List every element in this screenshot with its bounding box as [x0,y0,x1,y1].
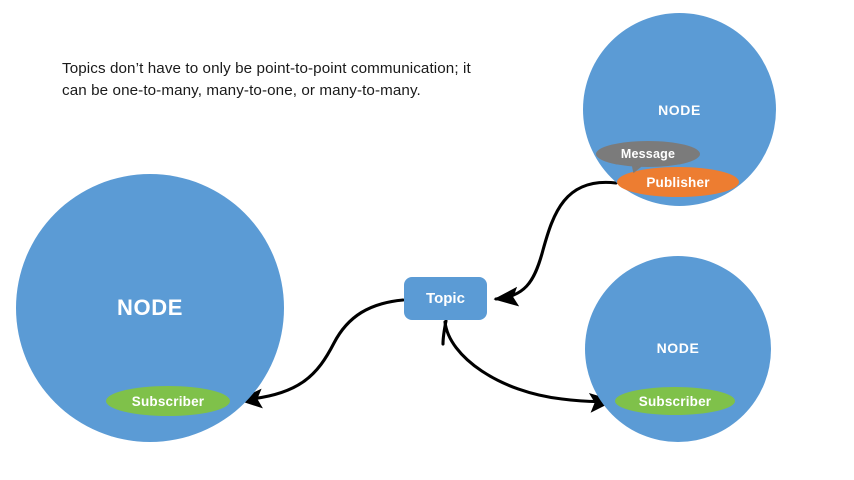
message-label: Message [621,147,675,161]
topic-label: Topic [426,290,465,307]
subscriber-pill-left[interactable]: Subscriber [106,386,230,416]
subscriber-bottom-right-label: Subscriber [639,394,712,409]
topic-box[interactable]: Topic [404,277,487,320]
node-bottom-right-label: NODE [585,340,771,356]
subscriber-left-label: Subscriber [132,394,205,409]
arrow-publisher-to-topic [496,182,616,299]
node-top-right-label: NODE [583,102,776,118]
message-bubble[interactable]: Message [596,141,700,167]
node-left-label: NODE [16,295,284,321]
arrow-stub-topic-bottom [443,321,446,344]
subscriber-pill-bottom-right[interactable]: Subscriber [615,387,735,415]
caption-text: Topics don’t have to only be point-to-po… [62,58,482,102]
diagram-canvas: Topics don’t have to only be point-to-po… [0,0,854,480]
publisher-label: Publisher [646,175,709,190]
